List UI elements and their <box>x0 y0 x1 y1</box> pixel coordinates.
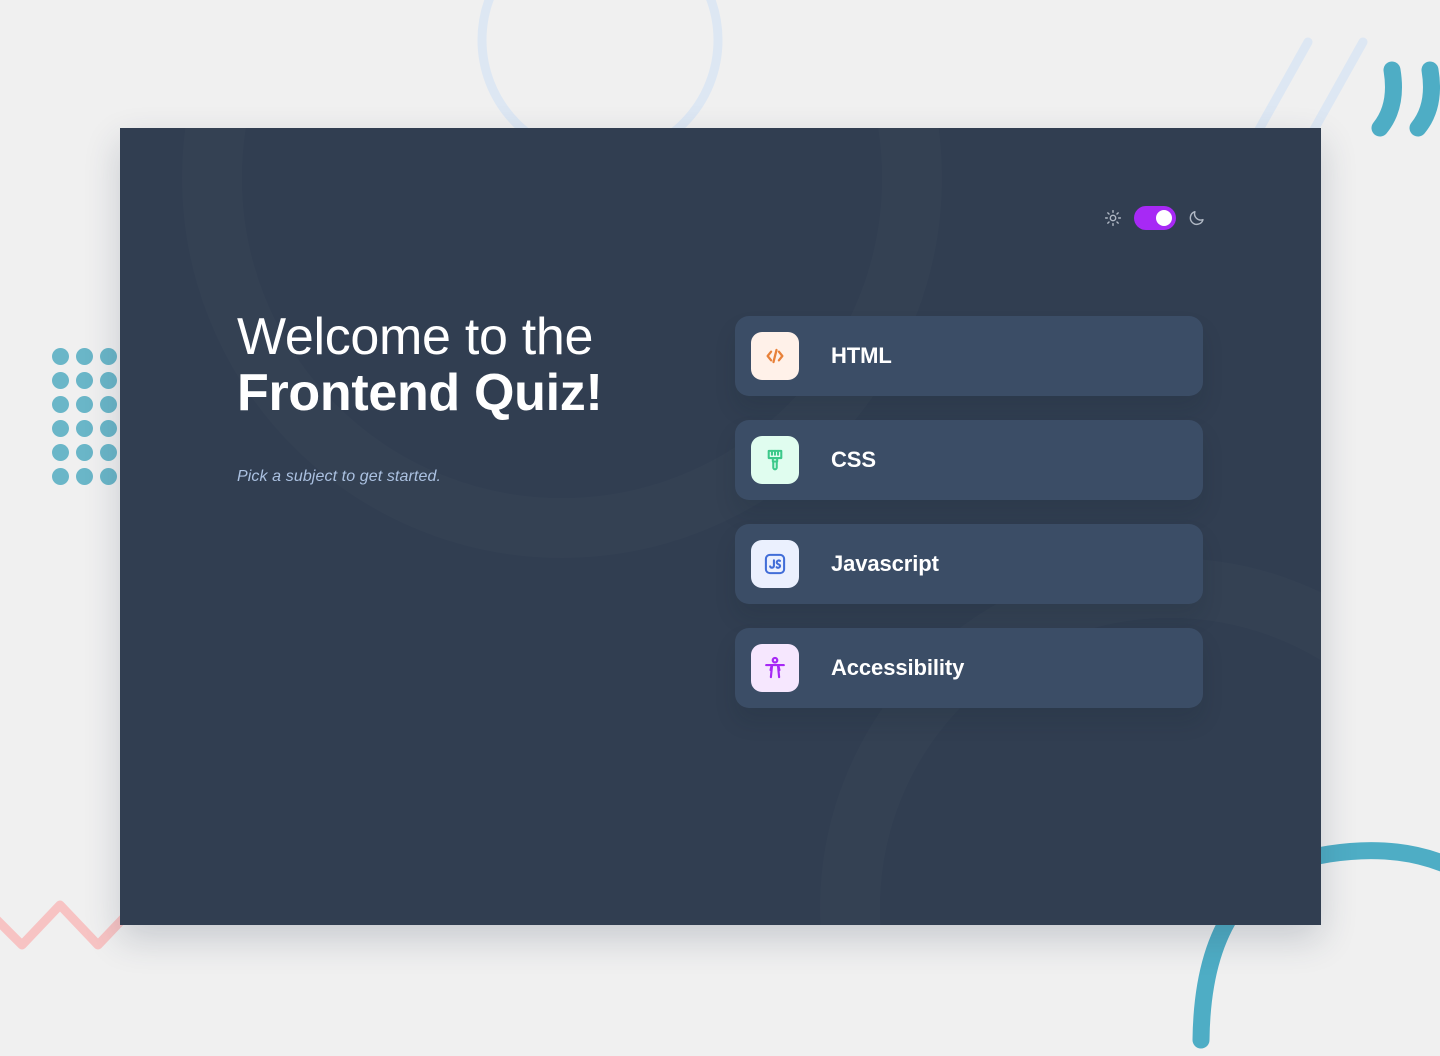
subject-label: Accessibility <box>831 655 964 681</box>
code-brackets-icon <box>751 332 799 380</box>
teal-quote-decoration <box>1380 70 1432 128</box>
theme-toggle-switch[interactable] <box>1134 206 1176 230</box>
subject-card-accessibility[interactable]: Accessibility <box>735 628 1203 708</box>
pink-zigzag-decoration <box>0 905 136 945</box>
js-badge-icon <box>751 540 799 588</box>
theme-toggle-knob[interactable] <box>1156 210 1172 226</box>
moon-icon <box>1188 209 1206 227</box>
page-title-line1: Welcome to the <box>237 311 677 363</box>
paintbrush-icon <box>751 436 799 484</box>
quiz-panel: Welcome to the Frontend Quiz! Pick a sub… <box>120 128 1321 925</box>
page-subtitle: Pick a subject to get started. <box>237 468 677 486</box>
subject-label: HTML <box>831 343 892 369</box>
subject-label: CSS <box>831 447 876 473</box>
accessibility-person-icon <box>751 644 799 692</box>
subject-label: Javascript <box>831 551 939 577</box>
subject-card-javascript[interactable]: Javascript <box>735 524 1203 604</box>
page-title-line2: Frontend Quiz! <box>237 363 677 424</box>
sun-icon <box>1104 209 1122 227</box>
theme-toggle-group[interactable] <box>1104 206 1206 230</box>
subject-card-html[interactable]: HTML <box>735 316 1203 396</box>
subject-card-css[interactable]: CSS <box>735 420 1203 500</box>
subject-list: HTML CSS <box>735 316 1203 708</box>
intro-block: Welcome to the Frontend Quiz! Pick a sub… <box>237 311 677 486</box>
